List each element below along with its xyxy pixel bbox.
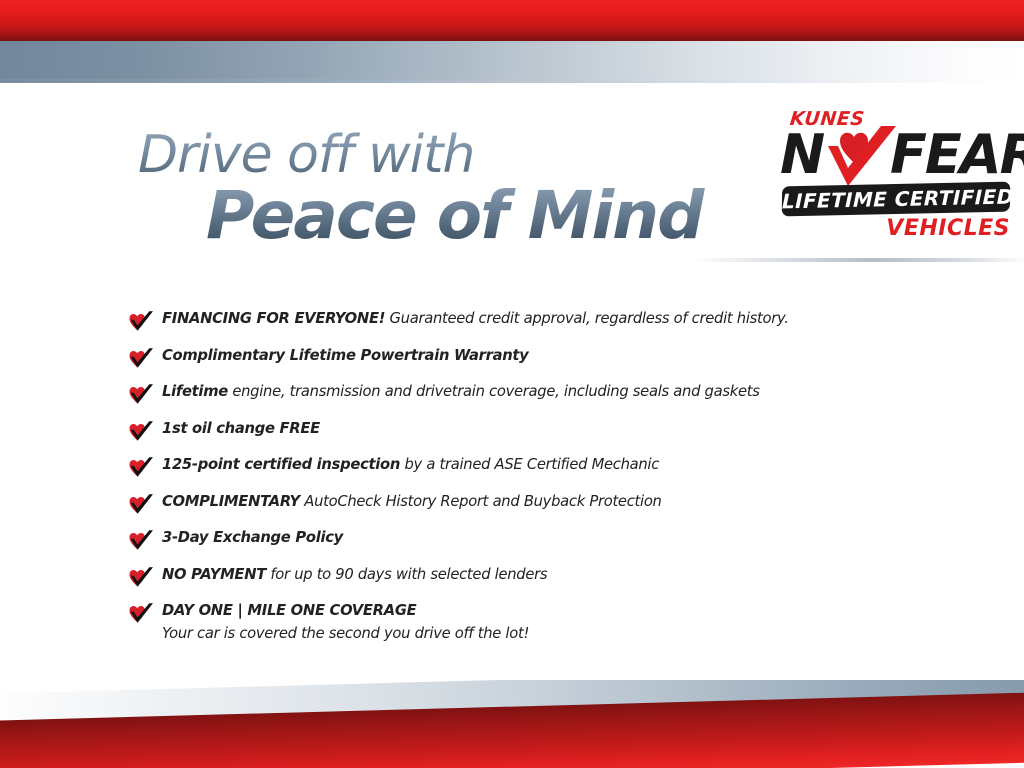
heart-check-bullet-icon <box>128 420 154 444</box>
list-item: DAY ONE | MILE ONE COVERAGE Your car is … <box>128 600 958 644</box>
headline-line-2: Peace of Mind <box>206 180 778 252</box>
list-item: FINANCING FOR EVERYONE! Guaranteed credi… <box>128 308 958 334</box>
list-item-rest: by a trained ASE Certified Mechanic <box>400 455 659 473</box>
list-item-text: DAY ONE | MILE ONE COVERAGE <box>162 600 529 621</box>
list-item: 1st oil change FREE <box>128 418 958 444</box>
list-item: 125-point certified inspection by a trai… <box>128 454 958 480</box>
list-item: COMPLIMENTARY AutoCheck History Report a… <box>128 491 958 517</box>
list-item-subtext: Your car is covered the second you drive… <box>162 622 529 644</box>
list-item-bold: COMPLIMENTARY <box>162 492 300 510</box>
bottom-stripe-group <box>0 680 1024 768</box>
benefits-list: FINANCING FOR EVERYONE! Guaranteed credi… <box>128 308 958 655</box>
list-item-text: 1st oil change FREE <box>162 418 320 439</box>
logo-word-fear: FEAR <box>890 128 1024 182</box>
logo-wordmark: N FEAR <box>778 128 1014 184</box>
list-item-bold: FINANCING FOR EVERYONE! <box>162 309 385 327</box>
heart-check-bullet-icon <box>128 602 154 626</box>
list-item-bold: Complimentary Lifetime Powertrain Warran… <box>162 346 528 364</box>
list-item-text: FINANCING FOR EVERYONE! Guaranteed credi… <box>162 308 789 329</box>
list-item: 3-Day Exchange Policy <box>128 527 958 553</box>
list-item-bold: NO PAYMENT <box>162 565 266 583</box>
list-item-rest: for up to 90 days with selected lenders <box>266 565 547 583</box>
logo-certified-bar: LIFETIME CERTIFIED <box>782 182 1011 217</box>
list-item-bold: 3-Day Exchange Policy <box>162 528 343 546</box>
list-item: Lifetime engine, transmission and drivet… <box>128 381 958 407</box>
list-item: Complimentary Lifetime Powertrain Warran… <box>128 345 958 371</box>
heart-check-bullet-icon <box>128 383 154 407</box>
list-item-text: Complimentary Lifetime Powertrain Warran… <box>162 345 528 366</box>
headline-block: Drive off with Peace of Mind <box>138 126 778 252</box>
headline-line-1: Drive off with <box>138 126 778 184</box>
list-item-rest: engine, transmission and drivetrain cove… <box>228 382 760 400</box>
list-item-bold: 1st oil change FREE <box>162 419 320 437</box>
promotional-banner: Drive off with Peace of Mind KUNES N FEA… <box>0 0 1024 768</box>
heart-check-bullet-icon <box>128 456 154 480</box>
kunes-no-fear-logo: KUNES N FEAR LIFETIME CERTIFIED VEHICLES <box>778 108 1014 244</box>
list-item-text: NO PAYMENT for up to 90 days with select… <box>162 564 547 585</box>
logo-vehicles-text: VEHICLES <box>886 216 1010 241</box>
list-item-text: COMPLIMENTARY AutoCheck History Report a… <box>162 491 662 512</box>
header-divider <box>690 258 1024 262</box>
heart-check-bullet-icon <box>128 347 154 371</box>
heart-check-bullet-icon <box>128 529 154 553</box>
heart-check-bullet-icon <box>128 566 154 590</box>
list-item: NO PAYMENT for up to 90 days with select… <box>128 564 958 590</box>
list-item-text: 3-Day Exchange Policy <box>162 527 343 548</box>
list-item-rest: AutoCheck History Report and Buyback Pro… <box>300 492 662 510</box>
top-gray-stripe <box>0 41 1024 83</box>
list-item-text: 125-point certified inspection by a trai… <box>162 454 659 475</box>
heart-check-bullet-icon <box>128 310 154 334</box>
heart-check-bullet-icon <box>128 493 154 517</box>
list-item-rest: Guaranteed credit approval, regardless o… <box>385 309 789 327</box>
logo-certified-text: LIFETIME CERTIFIED <box>782 182 1011 217</box>
list-item-bold: Lifetime <box>162 382 228 400</box>
list-item-bold: 125-point certified inspection <box>162 455 400 473</box>
top-red-stripe <box>0 0 1024 41</box>
logo-letter-n: N <box>780 128 823 182</box>
list-item-text: Lifetime engine, transmission and drivet… <box>162 381 760 402</box>
list-item-bold: DAY ONE | MILE ONE COVERAGE <box>162 601 416 619</box>
